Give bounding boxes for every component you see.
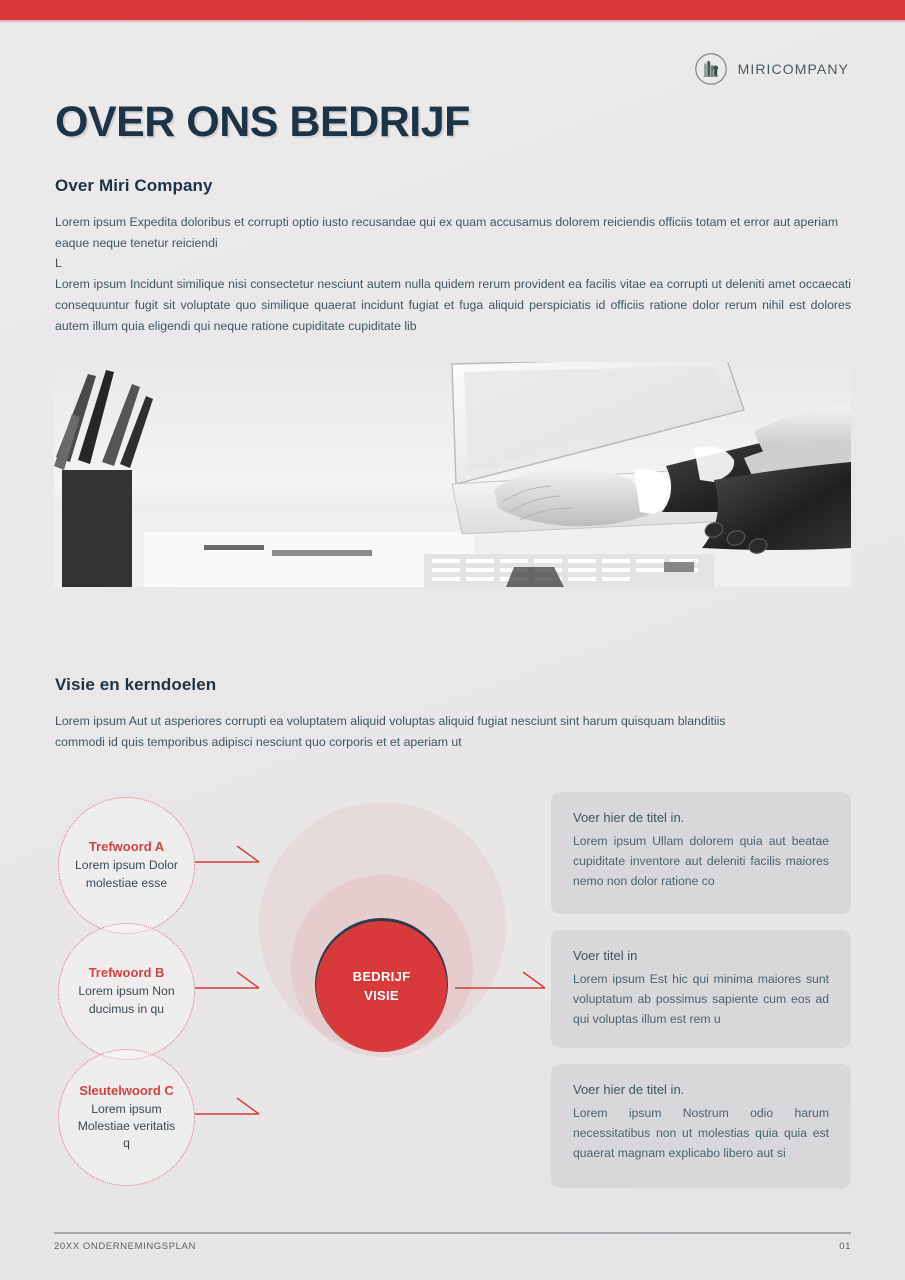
arrow-icon-bubble-a-to-core — [195, 843, 267, 874]
brand-logo: MIRICOMPANY — [694, 52, 849, 86]
vision-paragraph: Lorem ipsum Aut ut asperiores corrupti e… — [55, 711, 775, 753]
top-accent-bar-shadow — [0, 20, 905, 23]
about-paragraph-1: Lorem ipsum Expedita doloribus et corrup… — [55, 212, 851, 254]
footer-divider — [54, 1232, 851, 1234]
card-title: Voer hier de titel in. — [573, 810, 829, 825]
diagram-card-1[interactable]: Voer hier de titel in. Lorem ipsum Ullam… — [551, 792, 851, 914]
bubble-title: Trefwoord A — [89, 839, 164, 854]
brand-name: MIRICOMPANY — [738, 61, 849, 77]
card-text: Lorem ipsum Ullam dolorem quia aut beata… — [573, 832, 829, 891]
vision-section-heading: Visie en kerndoelen — [55, 675, 216, 695]
card-text: Lorem ipsum Nostrum odio harum necessita… — [573, 1104, 829, 1163]
bubble-title: Sleutelwoord C — [79, 1083, 174, 1098]
arrow-icon-bubble-c-to-core — [195, 1095, 267, 1126]
arrow-icon-bubble-b-to-core — [195, 969, 267, 1000]
about-paragraph-2: Lorem ipsum Incidunt similique nisi cons… — [55, 274, 851, 337]
card-text: Lorem ipsum Est hic qui minima maiores s… — [573, 970, 829, 1029]
diagram-card-3[interactable]: Voer hier de titel in. Lorem ipsum Nostr… — [551, 1064, 851, 1188]
diagram-bubble-trefwoord-b[interactable]: Trefwoord B Lorem ipsum Non ducimus in q… — [58, 923, 195, 1060]
diagram-core-bedrijf-visie: BEDRIJF VISIE — [316, 921, 447, 1052]
office-photo — [54, 362, 851, 587]
bubble-text: Lorem ipsum Dolor molestiae esse — [73, 857, 180, 892]
about-paragraph-stray: L — [55, 253, 851, 274]
footer-page-number: 01 — [839, 1241, 851, 1252]
building-circle-logo-icon — [694, 52, 728, 86]
core-line-1: BEDRIJF — [353, 968, 411, 987]
diagram-bubble-sleutelwoord-c[interactable]: Sleutelwoord C Lorem ipsum Molestiae ver… — [58, 1049, 195, 1186]
top-accent-bar — [0, 0, 905, 20]
card-title: Voer titel in — [573, 948, 829, 963]
bubble-text: Lorem ipsum Non ducimus in qu — [73, 983, 180, 1018]
about-section-heading: Over Miri Company — [55, 176, 213, 196]
bubble-text: Lorem ipsum Molestiae veritatis q — [73, 1101, 180, 1153]
page-footer: 20XX ONDERNEMINGSPLAN 01 — [54, 1241, 851, 1252]
page-title: OVER ONS BEDRIJF — [55, 100, 470, 145]
document-page: MIRICOMPANY OVER ONS BEDRIJF Over Miri C… — [0, 0, 905, 1280]
arrow-icon-core-to-cards — [455, 969, 553, 1000]
diagram-card-2[interactable]: Voer titel in Lorem ipsum Est hic qui mi… — [551, 930, 851, 1048]
bubble-title: Trefwoord B — [89, 965, 165, 980]
diagram-bubble-trefwoord-a[interactable]: Trefwoord A Lorem ipsum Dolor molestiae … — [58, 797, 195, 934]
card-title: Voer hier de titel in. — [573, 1082, 829, 1097]
core-line-2: VISIE — [364, 987, 399, 1006]
footer-label: 20XX ONDERNEMINGSPLAN — [54, 1241, 196, 1252]
